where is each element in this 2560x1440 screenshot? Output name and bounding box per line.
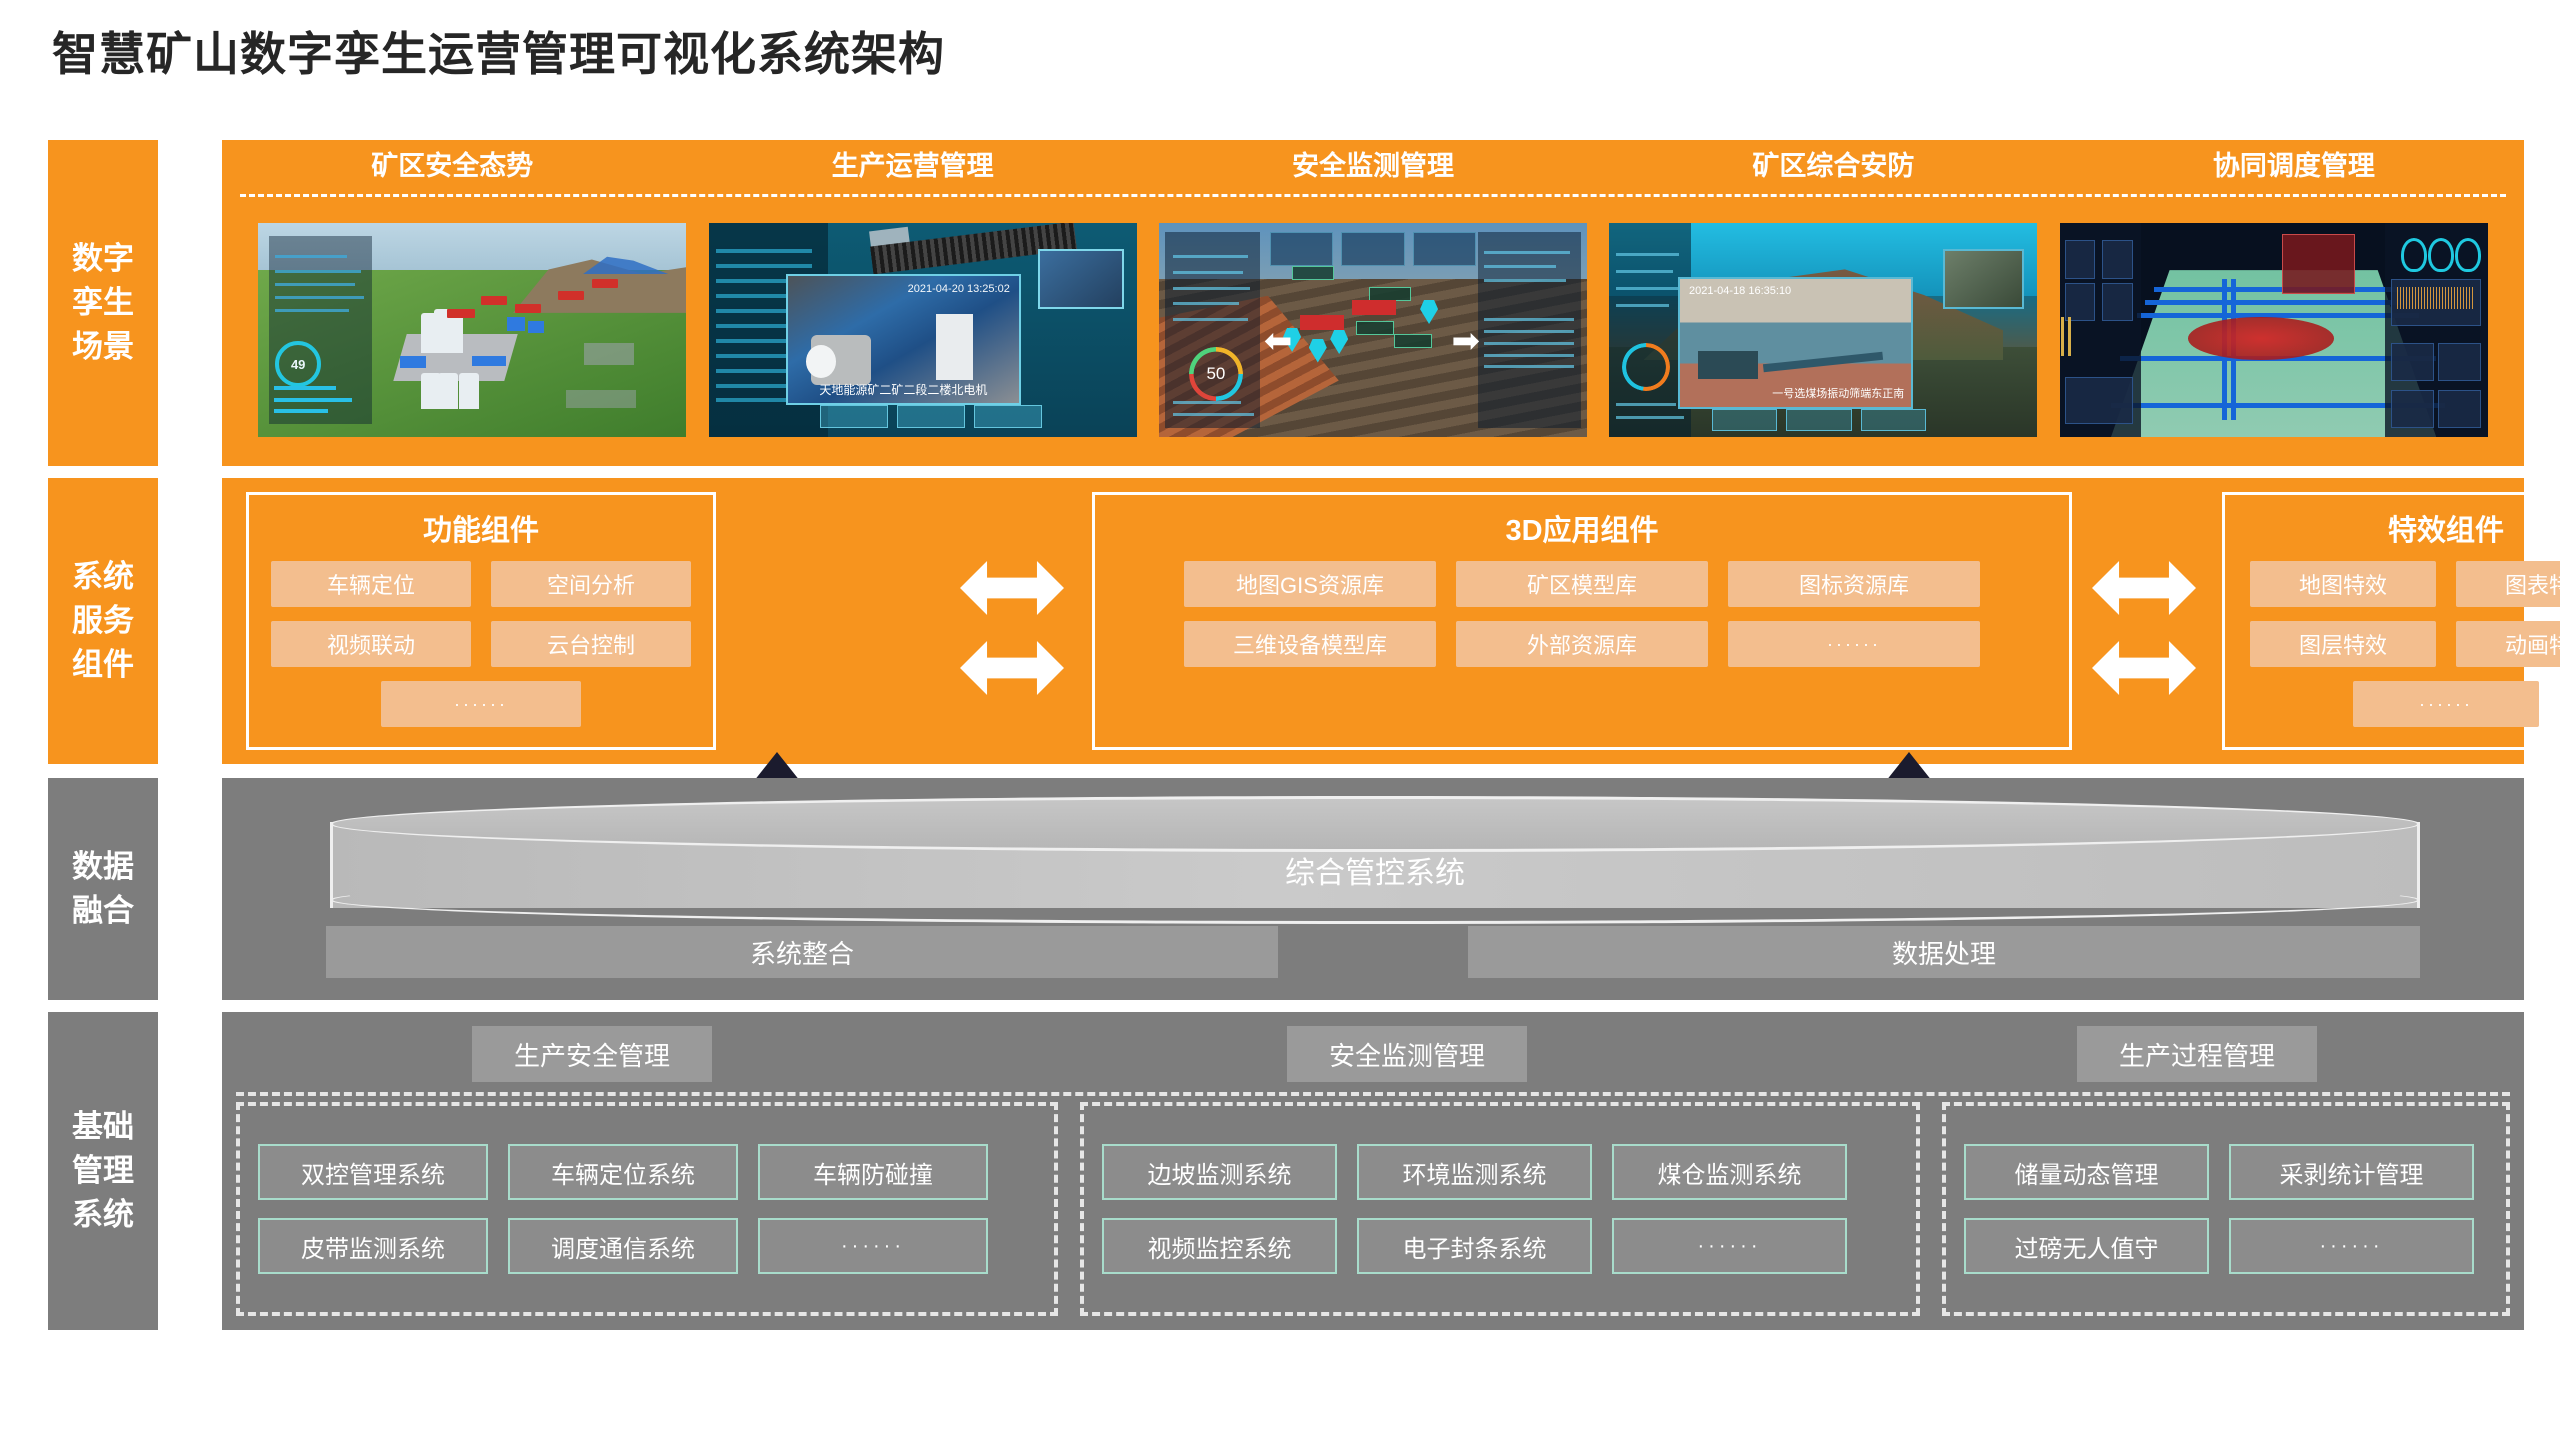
conveyor (1763, 352, 1883, 372)
system-chip[interactable]: 视频监控系统 (1102, 1218, 1337, 1274)
double-arrow-icon (960, 557, 1064, 619)
cylinder-label: 综合管控系统 (330, 848, 2420, 892)
machinery (1698, 351, 1758, 379)
prev-arrow-icon[interactable]: ⬅ (1264, 324, 1293, 358)
right-detail-panel (1478, 232, 1581, 429)
video-timestamp: 2021-04-18 16:35:10 (1689, 285, 1791, 297)
system-chip[interactable]: 调度通信系统 (508, 1218, 738, 1274)
component-chip-more[interactable]: ······ (381, 681, 581, 727)
control-cabinet (936, 314, 973, 380)
base-group-safety-monitoring: 边坡监测系统 环境监测系统 煤仓监测系统 视频监控系统 电子封条系统 ·····… (1080, 1102, 1920, 1316)
service-group-3d-components: 3D应用组件 地图GIS资源库 矿区模型库 图标资源库 三维设备模型库 外部资源… (1092, 492, 2072, 750)
component-chip[interactable]: 地图GIS资源库 (1184, 561, 1436, 607)
area-block (566, 390, 636, 408)
building-block (472, 356, 506, 366)
group-title: 特效组件 (2388, 507, 2504, 549)
gauge-value: 49 (279, 357, 317, 372)
building-block (400, 356, 426, 368)
video-timestamp: 2021-04-20 13:25:02 (908, 283, 1010, 295)
video-caption: 一号选煤场振动筛端东正南 (1772, 385, 1904, 401)
base-group-production-process: 储量动态管理 采剥统计管理 过磅无人值守 ······ (1942, 1102, 2510, 1316)
group-title: 功能组件 (423, 507, 539, 549)
component-chip[interactable]: 空间分析 (491, 561, 691, 607)
bottom-button-row[interactable] (820, 405, 1043, 429)
highlight-ellipse (2188, 317, 2334, 360)
system-chip[interactable]: 电子封条系统 (1357, 1218, 1592, 1274)
building-block (507, 317, 525, 331)
alarm-label (1352, 300, 1396, 315)
system-chip[interactable]: 采剥统计管理 (2229, 1144, 2474, 1200)
data-fusion-bar-row: 系统整合 数据处理 (326, 926, 2420, 978)
base-group-production-safety: 双控管理系统 车辆定位系统 车辆防碰撞 皮带监测系统 调度通信系统 ······ (236, 1102, 1058, 1316)
system-chip[interactable]: 双控管理系统 (258, 1144, 488, 1200)
security-video-feed: 2021-04-18 16:35:10 一号选煤场振动筛端东正南 (1678, 277, 1913, 410)
system-chip[interactable]: 车辆定位系统 (508, 1144, 738, 1200)
row-label-line: 基础 (72, 1105, 134, 1149)
alert-tag (558, 291, 584, 300)
component-chip[interactable]: 图标资源库 (1728, 561, 1980, 607)
component-chip[interactable]: 云台控制 (491, 621, 691, 667)
dashed-divider (236, 1092, 2510, 1096)
top-metric-cards (1270, 232, 1475, 266)
component-chip-more[interactable]: ······ (1728, 621, 1980, 667)
row-label-line: 管理 (72, 1149, 134, 1193)
base-header: 生产过程管理 (2077, 1026, 2317, 1082)
alert-tag (447, 309, 475, 318)
dashed-divider (240, 194, 2506, 197)
scene-title: 协同调度管理 (2064, 140, 2524, 192)
row-label-line: 系统 (72, 1193, 134, 1237)
component-chip[interactable]: 视频联动 (271, 621, 471, 667)
bidirectional-arrows-left (952, 538, 1072, 718)
area-block (584, 343, 634, 365)
row-label-line: 场景 (72, 325, 134, 369)
gauge-value: 50 (1189, 347, 1243, 401)
base-header-row: 生产安全管理 安全监测管理 生产过程管理 (222, 1026, 2524, 1082)
double-arrow-icon (2092, 637, 2196, 699)
system-chip[interactable]: 环境监测系统 (1357, 1144, 1592, 1200)
scene-thumbnail-dispatch-control-dashboard[interactable] (2060, 223, 2488, 437)
scene-thumbnail-mine-terrain-3d[interactable]: 49 (258, 223, 686, 437)
alert-tag (481, 296, 507, 305)
map-label (1292, 266, 1334, 280)
chip-grid: 地图GIS资源库 矿区模型库 图标资源库 三维设备模型库 外部资源库 ·····… (1095, 561, 2069, 667)
component-chip-more[interactable]: ······ (2353, 681, 2539, 727)
page-title: 智慧矿山数字孪生运营管理可视化系统架构 (52, 18, 945, 84)
base-management-band: 生产安全管理 安全监测管理 生产过程管理 双控管理系统 车辆定位系统 车辆防碰撞… (222, 1012, 2524, 1330)
row-label-line: 孪生 (72, 281, 134, 325)
alert-tag (592, 279, 618, 288)
component-chip[interactable]: 车辆定位 (271, 561, 471, 607)
bottom-button-row[interactable] (1712, 409, 1926, 430)
component-chip[interactable]: 图层特效 (2250, 621, 2436, 667)
row-label-line: 服务 (72, 599, 134, 643)
bar-chart (2061, 317, 2072, 356)
system-service-band: 功能组件 车辆定位 空间分析 视频联动 云台控制 ······ 3D应用组件 地… (222, 478, 2524, 764)
system-chip[interactable]: 车辆防碰撞 (758, 1144, 988, 1200)
service-group-effect-components: 特效组件 地图特效 图表特效 图层特效 动画特效 ······ (2222, 492, 2560, 750)
bidirectional-arrows-right (2084, 538, 2204, 718)
left-info-panel: 49 (269, 236, 372, 424)
picture-in-picture-feed (1038, 249, 1124, 309)
row-label-line: 数字 (72, 237, 134, 281)
row-label-line: 数据 (72, 845, 134, 889)
system-chip-more[interactable]: ······ (2229, 1218, 2474, 1274)
equipment-video-feed: 2021-04-20 13:25:02 天地能源矿二矿二段二楼北电机 (786, 274, 1021, 405)
system-chip[interactable]: 皮带监测系统 (258, 1218, 488, 1274)
scene-title: 生产运营管理 (682, 140, 1142, 192)
system-chip[interactable]: 储量动态管理 (1964, 1144, 2209, 1200)
component-chip[interactable]: 三维设备模型库 (1184, 621, 1436, 667)
row-label-data-fusion: 数据 融合 (48, 778, 158, 1000)
map-label (1356, 321, 1394, 335)
group-title: 3D应用组件 (1505, 507, 1658, 549)
row-label-line: 融合 (72, 889, 134, 933)
component-chip[interactable]: 动画特效 (2456, 621, 2560, 667)
picture-in-picture-feed (1943, 249, 2024, 309)
double-arrow-icon (2092, 557, 2196, 619)
base-group-row: 双控管理系统 车辆定位系统 车辆防碰撞 皮带监测系统 调度通信系统 ······… (236, 1102, 2510, 1316)
left-personnel-panel (2060, 223, 2141, 437)
map-label (1394, 334, 1432, 348)
next-arrow-icon[interactable]: ➡ (1451, 324, 1480, 358)
system-chip[interactable]: 过磅无人值守 (1964, 1218, 2209, 1274)
alarm-popup (2282, 234, 2355, 294)
base-header: 安全监测管理 (1287, 1026, 1527, 1082)
chip-grid: 车辆定位 空间分析 视频联动 云台控制 ······ (249, 561, 713, 727)
data-fusion-band: 综合管控系统 系统整合 数据处理 (222, 778, 2524, 1000)
base-header: 生产安全管理 (472, 1026, 712, 1082)
scene-title: 矿区安全态势 (222, 140, 682, 192)
status-ring: 49 (275, 341, 321, 387)
data-fusion-bar[interactable]: 系统整合 (326, 926, 1278, 978)
scene-title: 安全监测管理 (1143, 140, 1603, 192)
integrated-control-cylinder: 综合管控系统 (330, 796, 2420, 924)
cylinder-top (330, 796, 2420, 852)
alarm-label (1300, 315, 1344, 330)
scene-title: 矿区综合安防 (1603, 140, 2063, 192)
row-label-base-management: 基础 管理 系统 (48, 1012, 158, 1330)
architecture-diagram: 智慧矿山数字孪生运营管理可视化系统架构 数字 孪生 场景 矿区安全态势 生产运营… (0, 0, 2560, 1440)
silo (459, 373, 479, 409)
double-arrow-icon (960, 637, 1064, 699)
row-label-system-service: 系统 服务 组件 (48, 478, 158, 764)
component-chip[interactable]: 地图特效 (2250, 561, 2436, 607)
system-chip[interactable]: 边坡监测系统 (1102, 1144, 1337, 1200)
row-label-line: 组件 (72, 643, 134, 687)
component-chip[interactable]: 图表特效 (2456, 561, 2560, 607)
silo (438, 373, 458, 409)
status-gauge (1622, 343, 1670, 391)
component-chip[interactable]: 外部资源库 (1456, 621, 1708, 667)
system-chip-more[interactable]: ······ (758, 1218, 988, 1274)
row-label-digital-twin: 数字 孪生 场景 (48, 140, 158, 466)
building-block (528, 321, 544, 333)
service-group-function-components: 功能组件 车辆定位 空间分析 视频联动 云台控制 ······ (246, 492, 716, 750)
scene-thumbnail-security-surveillance[interactable]: 2021-04-18 16:35:10 一号选煤场振动筛端东正南 (1609, 223, 2037, 437)
digital-twin-band: 矿区安全态势 生产运营管理 安全监测管理 矿区综合安防 协同调度管理 (222, 140, 2524, 466)
chip-grid: 地图特效 图表特效 图层特效 动画特效 ······ (2225, 561, 2560, 727)
row-label-line: 系统 (72, 555, 134, 599)
motor-fan (806, 345, 836, 378)
video-caption: 天地能源矿二矿二段二楼北电机 (788, 381, 1019, 398)
system-chip-more[interactable]: ······ (1612, 1218, 1847, 1274)
alert-tag (515, 304, 541, 313)
scene-title-row: 矿区安全态势 生产运营管理 安全监测管理 矿区综合安防 协同调度管理 (222, 140, 2524, 192)
data-fusion-bar[interactable]: 数据处理 (1468, 926, 2420, 978)
system-chip[interactable]: 煤仓监测系统 (1612, 1144, 1847, 1200)
scene-thumbnail-strip: 49 (222, 204, 2524, 456)
component-chip[interactable]: 矿区模型库 (1456, 561, 1708, 607)
scene-thumbnail-equipment-video-monitor[interactable]: 2021-04-20 13:25:02 天地能源矿二矿二段二楼北电机 (709, 223, 1137, 437)
right-metrics-panel (2385, 223, 2488, 437)
sparkline (2395, 287, 2475, 309)
scene-thumbnail-openpit-monitor-dashboard[interactable]: 50 ⬅ ➡ (1159, 223, 1587, 437)
